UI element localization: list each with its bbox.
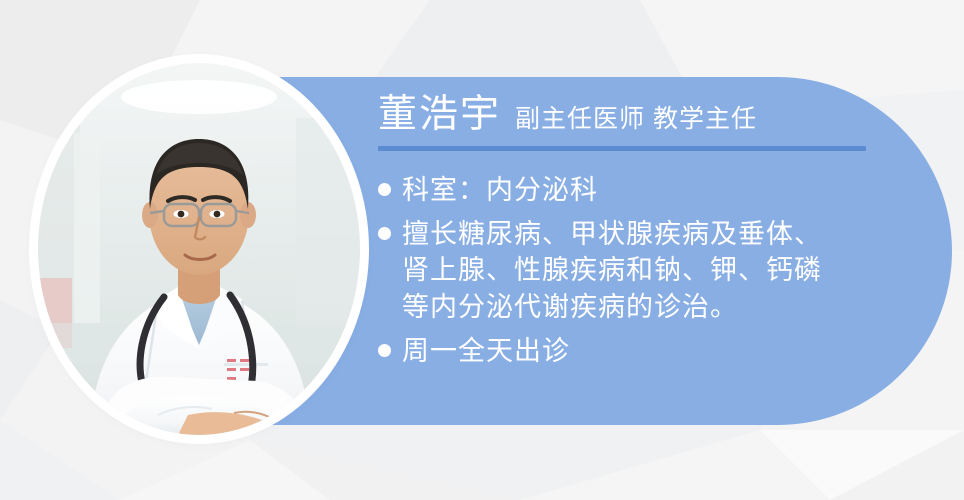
title-divider [378, 146, 866, 151]
name-row: 董浩宇 副主任医师 教学主任 [378, 95, 918, 134]
bullet-dot-icon [378, 344, 391, 357]
doctor-title: 副主任医师 教学主任 [515, 107, 757, 132]
doctor-profile-banner: 董浩宇 副主任医师 教学主任 科室：内分泌科 擅长糖尿病、甲状腺疾病及垂体、 肾… [0, 0, 964, 500]
list-item: 擅长糖尿病、甲状腺疾病及垂体、 肾上腺、性腺疾病和钠、钾、钙磷 等内分泌代谢疾病… [378, 216, 918, 326]
doctor-name: 董浩宇 [378, 95, 501, 134]
bullet-text: 擅长糖尿病、甲状腺疾病及垂体、 肾上腺、性腺疾病和钠、钾、钙磷 等内分泌代谢疾病… [402, 216, 822, 326]
doctor-photo-circle [38, 63, 360, 435]
doctor-portrait-illustration [38, 63, 360, 435]
doctor-bullet-list: 科室：内分泌科 擅长糖尿病、甲状腺疾病及垂体、 肾上腺、性腺疾病和钠、钾、钙磷 … [378, 172, 918, 370]
bullet-text: 科室：内分泌科 [402, 172, 598, 209]
doctor-photo-image [38, 63, 360, 435]
list-item: 科室：内分泌科 [378, 172, 918, 209]
bullet-dot-icon [378, 227, 391, 240]
doctor-info-text: 董浩宇 副主任医师 教学主任 科室：内分泌科 擅长糖尿病、甲状腺疾病及垂体、 肾… [378, 95, 918, 386]
bullet-text: 周一全天出诊 [402, 333, 570, 370]
bullet-dot-icon [378, 183, 391, 196]
list-item: 周一全天出诊 [378, 333, 918, 370]
